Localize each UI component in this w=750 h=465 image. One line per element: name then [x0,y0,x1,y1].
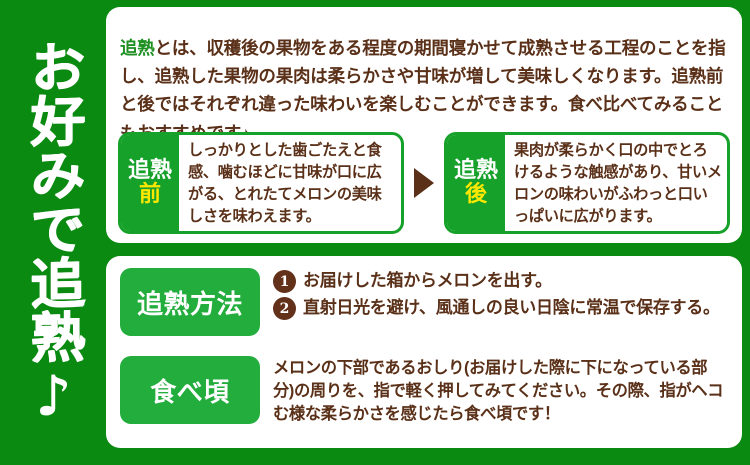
intro-rest: とは、収穫後の果物をある程度の期間寝かせて成熟させる工程のことを指し、追熟した果… [120,38,726,143]
side-banner-title: お好みで追熟♪ [25,38,81,427]
intro-highlight: 追熟 [120,38,155,58]
eat-time-section: 食べ頃 メロンの下部であるおしり(お届けした際に下になっている部分)の周りを、指… [120,356,728,426]
compare-box-after: 追熟 後 果肉が柔らかく口の中でとろけるような触感があり、甘いメロンの味わいがふ… [444,132,730,234]
method-section: 追熟方法 1 お届けした箱からメロンを出す。 2 直射日光を避け、風通しの良い日… [120,268,728,336]
method-content: 1 お届けした箱からメロンを出す。 2 直射日光を避け、風通しの良い日陰に常温で… [260,268,728,324]
top-panel: 追熟とは、収穫後の果物をある程度の期間寝かせて成熟させる工程のことを指し、追熟し… [106,7,742,243]
arrow-right-glyph [414,168,434,198]
step-badge-2: 2 [273,297,296,320]
arrow-right-icon [404,168,444,198]
compare-box-before: 追熟 前 しっかりとした歯ごたえと食感、噛むほどに甘味が口に広がる、とれたてメロ… [118,132,404,234]
list-item: 2 直射日光を避け、風通しの良い日陰に常温で保存する。 [273,297,728,320]
step-text-1: お届けした箱からメロンを出す。 [303,270,552,292]
bottom-panel: 追熟方法 1 お届けした箱からメロンを出す。 2 直射日光を避け、風通しの良い日… [106,256,742,448]
list-item: 1 お届けした箱からメロンを出す。 [273,270,728,293]
step-badge-1: 1 [273,270,296,293]
after-tag-line2: 後 [465,183,487,207]
before-tag-line1: 追熟 [128,159,172,183]
before-body-text: しっかりとした歯ごたえと食感、噛むほどに甘味が口に広がる、とれたてメロンの美味し… [179,135,401,231]
eat-time-content: メロンの下部であるおしり(お届けした際に下になっている部分)の周りを、指で軽く押… [260,356,728,426]
before-tag-line2: 前 [139,183,161,207]
after-tag: 追熟 後 [447,135,505,231]
step-text-2: 直射日光を避け、風通しの良い日陰に常温で保存する。 [303,297,720,319]
before-tag: 追熟 前 [121,135,179,231]
after-body-text: 果肉が柔らかく口の中でとろけるような触感があり、甘いメロンの味わいがふわっと口い… [505,135,727,231]
method-step-list: 1 お届けした箱からメロンを出す。 2 直射日光を避け、風通しの良い日陰に常温で… [273,268,728,320]
method-label: 追熟方法 [120,268,260,336]
compare-row: 追熟 前 しっかりとした歯ごたえと食感、噛むほどに甘味が口に広がる、とれたてメロ… [118,129,730,237]
side-banner: お好みで追熟♪ [0,0,106,465]
after-tag-line1: 追熟 [454,159,498,183]
infographic-root: お好みで追熟♪ 追熟とは、収穫後の果物をある程度の期間寝かせて成熟させる工程のこ… [0,0,750,465]
eat-time-label: 食べ頃 [120,356,260,424]
eat-time-text: メロンの下部であるおしり(お届けした際に下になっている部分)の周りを、指で軽く押… [273,356,728,426]
